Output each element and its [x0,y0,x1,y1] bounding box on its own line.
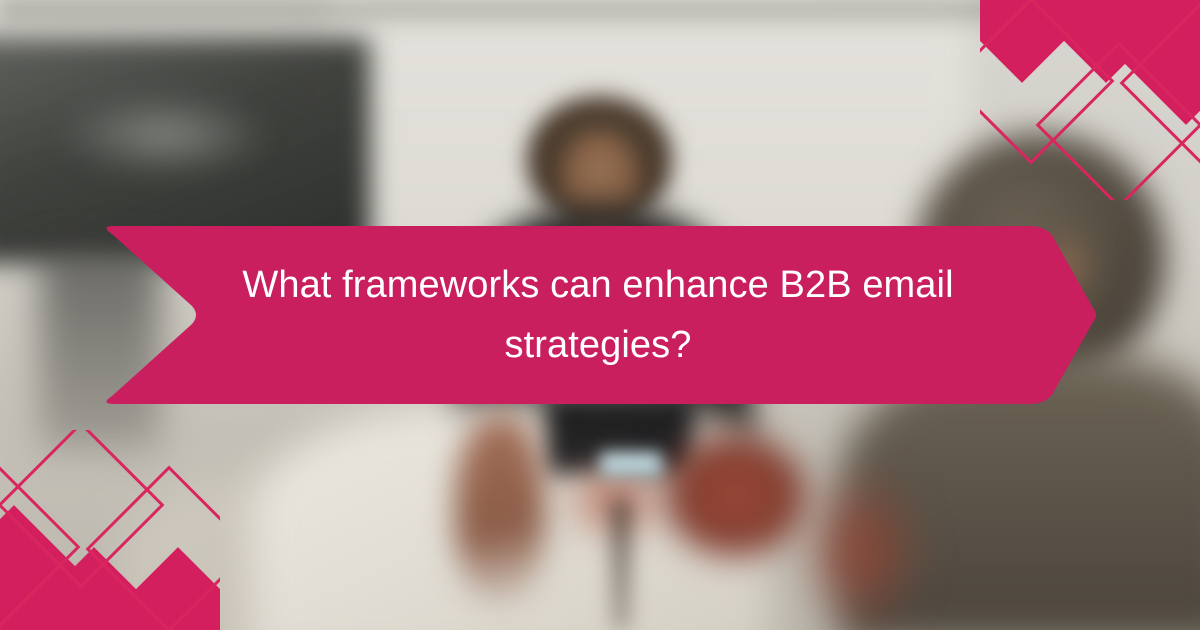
background-monitor-glow [60,95,270,175]
title-ribbon: What frameworks can enhance B2B email st… [100,226,1096,404]
hero-card: What frameworks can enhance B2B email st… [0,0,1200,630]
background-small-screen [600,452,662,476]
background-warm-object-right [800,470,920,630]
title-text-block: What frameworks can enhance B2B email st… [250,226,946,404]
background-warm-object-center [660,430,810,560]
title-line-1: What frameworks can enhance B2B email [242,256,953,314]
background-arm [455,415,545,605]
background-top-shade [0,0,1200,32]
background-stand-pole [612,500,630,630]
title-line-2: strategies? [505,316,692,374]
